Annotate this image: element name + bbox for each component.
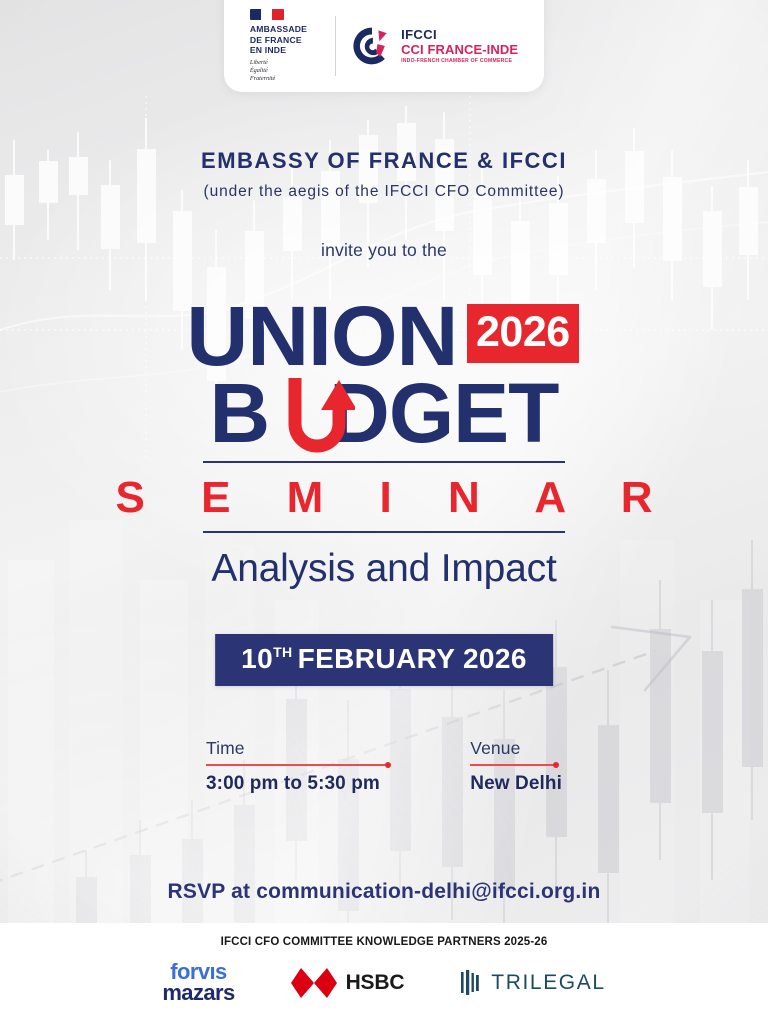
event-meta: Time 3:00 pm to 5:30 pm Venue New Delhi	[206, 738, 562, 795]
venue-value: New Delhi	[470, 773, 562, 795]
partner-logo-trilegal: TRILEGAL	[460, 970, 605, 995]
partners-title: IFCCI CFO COMMITTEE KNOWLEDGE PARTNERS 2…	[221, 936, 548, 948]
trilegal-bars-icon	[460, 970, 482, 995]
forvis-wordmark-bottom: mazars	[162, 983, 234, 1004]
date-ordinal: TH	[273, 645, 292, 659]
time-block: Time 3:00 pm to 5:30 pm	[206, 738, 390, 795]
partner-logos-row: forvıs mazars HSBC TRILEGAL	[162, 962, 605, 1003]
word-budget-b: B	[209, 374, 269, 453]
hsbc-wordmark: HSBC	[346, 971, 405, 995]
word-budget-dget: DGET	[329, 374, 558, 453]
date-rest: FEBRUARY 2026	[298, 643, 527, 675]
invite-line: invite you to the	[0, 240, 768, 261]
title-rule-bottom	[203, 531, 565, 533]
event-title-block: UNION 2026 B DGET S E M I N A R Analysis…	[0, 300, 768, 591]
event-subtitle: Analysis and Impact	[211, 547, 556, 591]
trilegal-wordmark: TRILEGAL	[491, 971, 605, 995]
venue-underline	[470, 764, 558, 766]
hsbc-hexagon-icon	[291, 968, 337, 998]
time-label: Time	[206, 738, 390, 759]
footer-partners: IFCCI CFO COMMITTEE KNOWLEDGE PARTNERS 2…	[0, 923, 768, 1019]
title-rule-top	[203, 461, 565, 463]
poster-content: EMBASSY OF FRANCE & IFCCI (under the aeg…	[0, 0, 768, 1019]
host-organisations: EMBASSY OF FRANCE & IFCCI	[0, 148, 768, 174]
word-union: UNION	[187, 300, 458, 372]
event-date-badge: 10THFEBRUARY 2026	[215, 634, 553, 686]
venue-block: Venue New Delhi	[470, 738, 562, 795]
title-line-union: UNION 2026	[189, 300, 578, 372]
rsvp-line[interactable]: RSVP at communication-delhi@ifcci.org.in	[0, 880, 768, 904]
time-value: 3:00 pm to 5:30 pm	[206, 773, 390, 795]
partner-logo-hsbc: HSBC	[291, 968, 405, 998]
red-up-arrow-u-icon	[283, 372, 355, 456]
poster-canvas: AMBASSADE DE FRANCE EN INDE Liberté Égal…	[0, 0, 768, 1019]
aegis-line: (under the aegis of the IFCCI CFO Commit…	[0, 183, 768, 201]
date-day: 10	[241, 643, 273, 675]
partner-logo-forvis-mazars: forvıs mazars	[162, 962, 234, 1003]
year-badge: 2026	[467, 304, 579, 363]
time-underline	[206, 764, 390, 766]
venue-label: Venue	[470, 738, 520, 759]
title-line-budget: B DGET	[209, 374, 558, 453]
word-seminar: S E M I N A R	[94, 470, 675, 525]
